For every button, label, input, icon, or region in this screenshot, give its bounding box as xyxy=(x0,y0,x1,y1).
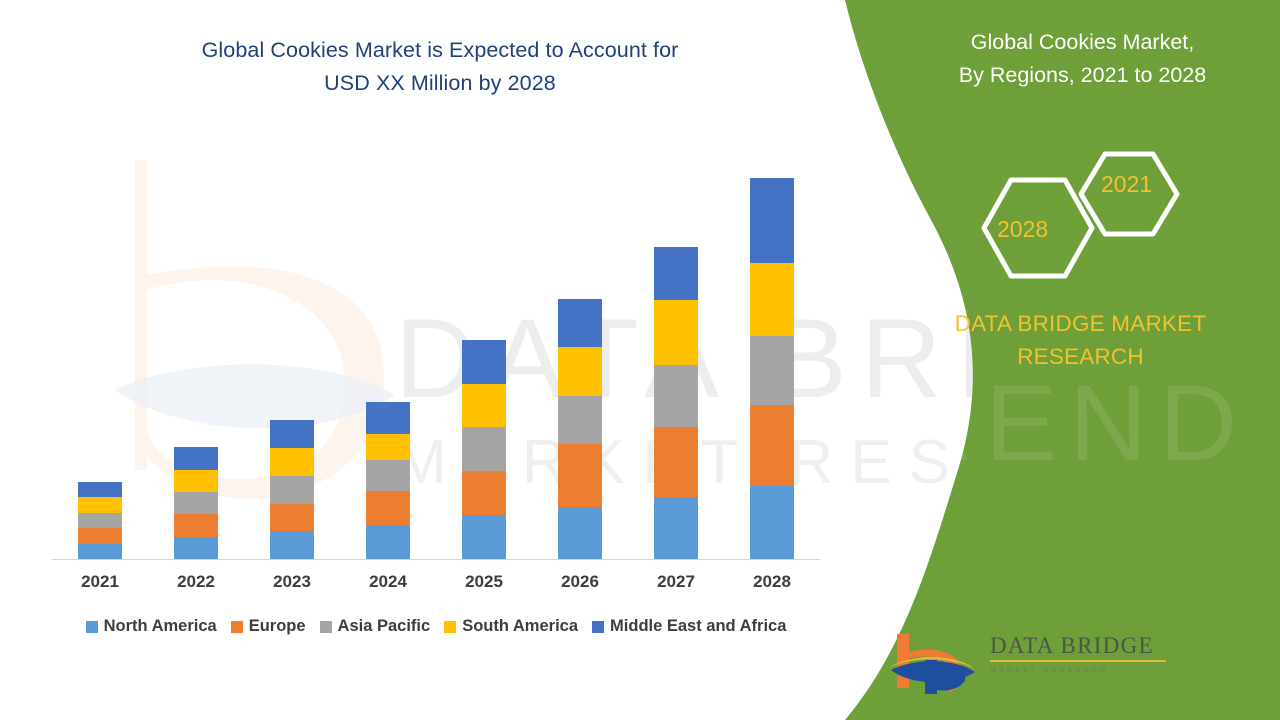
legend-item-middle-east-and-africa[interactable]: Middle East and Africa xyxy=(592,617,786,636)
bar-segment xyxy=(558,507,602,559)
bar-segment xyxy=(654,365,698,427)
bar-segment xyxy=(654,247,698,299)
legend-item-europe[interactable]: Europe xyxy=(231,617,306,636)
bar-segment xyxy=(270,531,314,559)
infographic-canvas: DATA BRIDGE MARKET RESEARCH Global Cooki… xyxy=(0,0,1280,720)
stacked-bar-2024[interactable] xyxy=(366,402,410,559)
bar-segment xyxy=(174,514,218,536)
stacked-bar-2025[interactable] xyxy=(462,340,506,559)
legend-item-south-america[interactable]: South America xyxy=(444,617,578,636)
company-logo[interactable]: DATA BRIDGE MARKET RESEARCH xyxy=(885,630,1145,700)
bar-segment xyxy=(174,447,218,469)
chart-title: Global Cookies Market is Expected to Acc… xyxy=(80,34,800,101)
logo-mark-icon xyxy=(885,630,980,696)
bar-segment xyxy=(174,537,218,559)
bar-segment xyxy=(174,470,218,492)
x-axis-tick-2026: 2026 xyxy=(532,572,628,592)
chart-plot-area xyxy=(52,160,820,560)
legend-swatch-icon xyxy=(592,621,604,633)
hexagon-label-2028: 2028 xyxy=(997,216,1048,243)
legend-swatch-icon xyxy=(86,621,98,633)
bar-segment xyxy=(558,396,602,444)
bar-segment xyxy=(462,384,506,428)
bar-slot xyxy=(628,160,724,559)
x-axis-line xyxy=(52,559,820,560)
bar-segment xyxy=(366,434,410,460)
legend-item-north-america[interactable]: North America xyxy=(86,617,217,636)
panel-title-line-2: By Regions, 2021 to 2028 xyxy=(885,59,1280,92)
legend-label: South America xyxy=(462,617,578,636)
logo-divider xyxy=(990,660,1166,662)
bar-segment xyxy=(174,492,218,514)
chart-title-line-2: USD XX Million by 2028 xyxy=(80,67,800,100)
x-axis-tick-labels: 20212022202320242025202620272028 xyxy=(52,572,820,592)
logo-name: DATA BRIDGE xyxy=(990,633,1170,659)
bar-slot xyxy=(340,160,436,559)
stacked-bar-2023[interactable] xyxy=(270,420,314,559)
bar-segment xyxy=(654,427,698,497)
legend-label: Europe xyxy=(249,617,306,636)
x-axis-tick-2023: 2023 xyxy=(244,572,340,592)
bar-slot xyxy=(436,160,532,559)
green-panel-content: TREND Global Cookies Market, By Regions,… xyxy=(845,0,1280,720)
bar-segment xyxy=(270,420,314,448)
bar-slot xyxy=(52,160,148,559)
bar-segment xyxy=(366,525,410,559)
legend-swatch-icon xyxy=(444,621,456,633)
bar-segment xyxy=(654,497,698,559)
brand-name: DATA BRIDGE MARKET RESEARCH xyxy=(845,308,1280,373)
bar-segment xyxy=(270,448,314,476)
bar-group xyxy=(52,160,820,559)
legend-label: Asia Pacific xyxy=(338,617,431,636)
bar-slot xyxy=(724,160,820,559)
hexagon-label-2021: 2021 xyxy=(1101,171,1152,198)
x-axis-tick-2021: 2021 xyxy=(52,572,148,592)
bar-segment xyxy=(462,515,506,559)
bar-segment xyxy=(750,486,794,559)
logo-tagline: MARKET RESEARCH xyxy=(990,665,1170,674)
stacked-bar-2027[interactable] xyxy=(654,247,698,559)
bar-segment xyxy=(270,476,314,504)
legend-item-asia-pacific[interactable]: Asia Pacific xyxy=(320,617,431,636)
stacked-bar-2026[interactable] xyxy=(558,299,602,559)
chart-legend: North AmericaEuropeAsia PacificSouth Ame… xyxy=(52,617,820,636)
stacked-bar-2021[interactable] xyxy=(78,482,122,559)
x-axis-tick-2022: 2022 xyxy=(148,572,244,592)
bar-slot xyxy=(532,160,628,559)
legend-swatch-icon xyxy=(320,621,332,633)
bar-slot xyxy=(244,160,340,559)
bar-segment xyxy=(462,471,506,515)
stacked-bar-2028[interactable] xyxy=(750,178,794,559)
bar-segment xyxy=(78,482,122,497)
x-axis-tick-2027: 2027 xyxy=(628,572,724,592)
x-axis-tick-2024: 2024 xyxy=(340,572,436,592)
bar-segment xyxy=(750,336,794,405)
panel-watermark-text: TREND xyxy=(817,360,1280,485)
panel-title-line-1: Global Cookies Market, xyxy=(885,26,1280,59)
x-axis-tick-2025: 2025 xyxy=(436,572,532,592)
brand-line-1: DATA BRIDGE MARKET xyxy=(881,308,1280,341)
bar-segment xyxy=(78,528,122,543)
x-axis-tick-2028: 2028 xyxy=(724,572,820,592)
hexagon-badges: 2028 2021 xyxy=(953,138,1253,298)
bar-slot xyxy=(148,160,244,559)
bar-segment xyxy=(78,497,122,512)
bar-segment xyxy=(558,444,602,507)
brand-line-2: RESEARCH xyxy=(881,341,1280,374)
panel-title: Global Cookies Market, By Regions, 2021 … xyxy=(845,26,1280,93)
bar-segment xyxy=(270,504,314,532)
legend-label: Middle East and Africa xyxy=(610,617,786,636)
chart-title-line-1: Global Cookies Market is Expected to Acc… xyxy=(80,34,800,67)
legend-swatch-icon xyxy=(231,621,243,633)
bar-segment xyxy=(558,347,602,395)
logo-wordmark: DATA BRIDGE MARKET RESEARCH xyxy=(990,633,1170,674)
bar-segment xyxy=(366,491,410,525)
bar-segment xyxy=(750,405,794,486)
bar-segment xyxy=(462,340,506,384)
bar-segment xyxy=(654,300,698,366)
stacked-bar-2022[interactable] xyxy=(174,447,218,559)
bar-segment xyxy=(366,402,410,434)
bar-segment xyxy=(558,299,602,347)
bar-segment xyxy=(750,178,794,263)
bar-segment xyxy=(462,427,506,471)
bar-segment xyxy=(750,263,794,336)
bar-segment xyxy=(78,544,122,559)
legend-label: North America xyxy=(104,617,217,636)
bar-segment xyxy=(78,513,122,528)
bar-segment xyxy=(366,460,410,492)
